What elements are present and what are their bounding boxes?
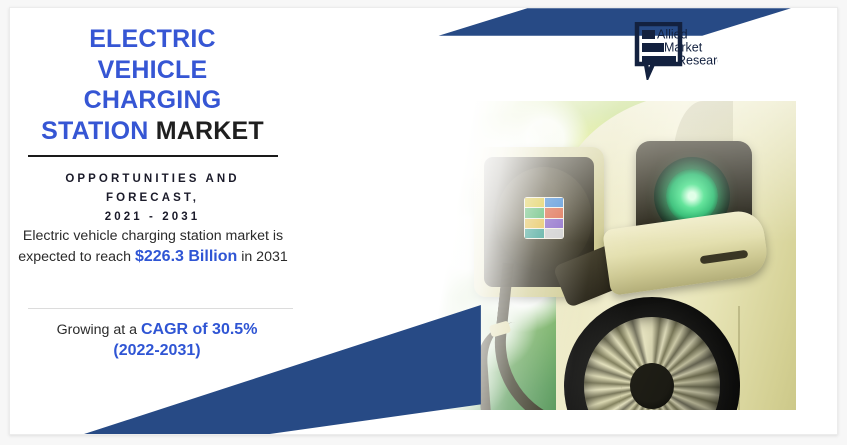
title-line-4: STATION [41,117,148,145]
market-value-statement: Electric vehicle charging station market… [18,227,288,267]
page-title: ELECTRIC VEHICLE CHARGING STATION MARKET [20,24,285,146]
divider-light [28,308,293,309]
lede-text-after: in 2031 [241,249,288,265]
allied-market-research-logo[interactable]: Allied Market Research [634,22,718,80]
cagr-period: (2022-2031) [113,342,200,359]
market-value: $226.3 Billion [135,248,237,265]
subtitle-block: OPPORTUNITIES AND FORECAST, 2021 - 2031 [20,170,285,227]
title-suffix: MARKET [156,117,264,145]
infographic-root: Allied Market Research ELECTRIC VEHICLE … [0,0,847,445]
logo-text-market: Market [664,41,703,55]
cagr-value: CAGR of 30.5% [141,321,257,338]
subtitle-line-2: FORECAST, [106,192,199,204]
logo-text-allied: Allied [657,28,688,42]
subtitle-line-3: 2021 - 2031 [105,211,201,223]
subtitle-line-1: OPPORTUNITIES AND [65,173,239,185]
cagr-statement: Growing at a CAGR of 30.5% (2022-2031) [18,319,296,362]
title-line-1: ELECTRIC [89,25,216,53]
photo-top-fade [438,101,796,243]
divider-dark [28,155,278,157]
title-line-2: VEHICLE [98,56,208,84]
logo-text-research: Research [677,54,718,68]
cagr-text-before: Growing at a [57,322,137,338]
title-line-3: CHARGING [84,86,222,114]
infographic-card: Allied Market Research ELECTRIC VEHICLE … [9,7,838,435]
ev-charging-photo [438,101,796,410]
